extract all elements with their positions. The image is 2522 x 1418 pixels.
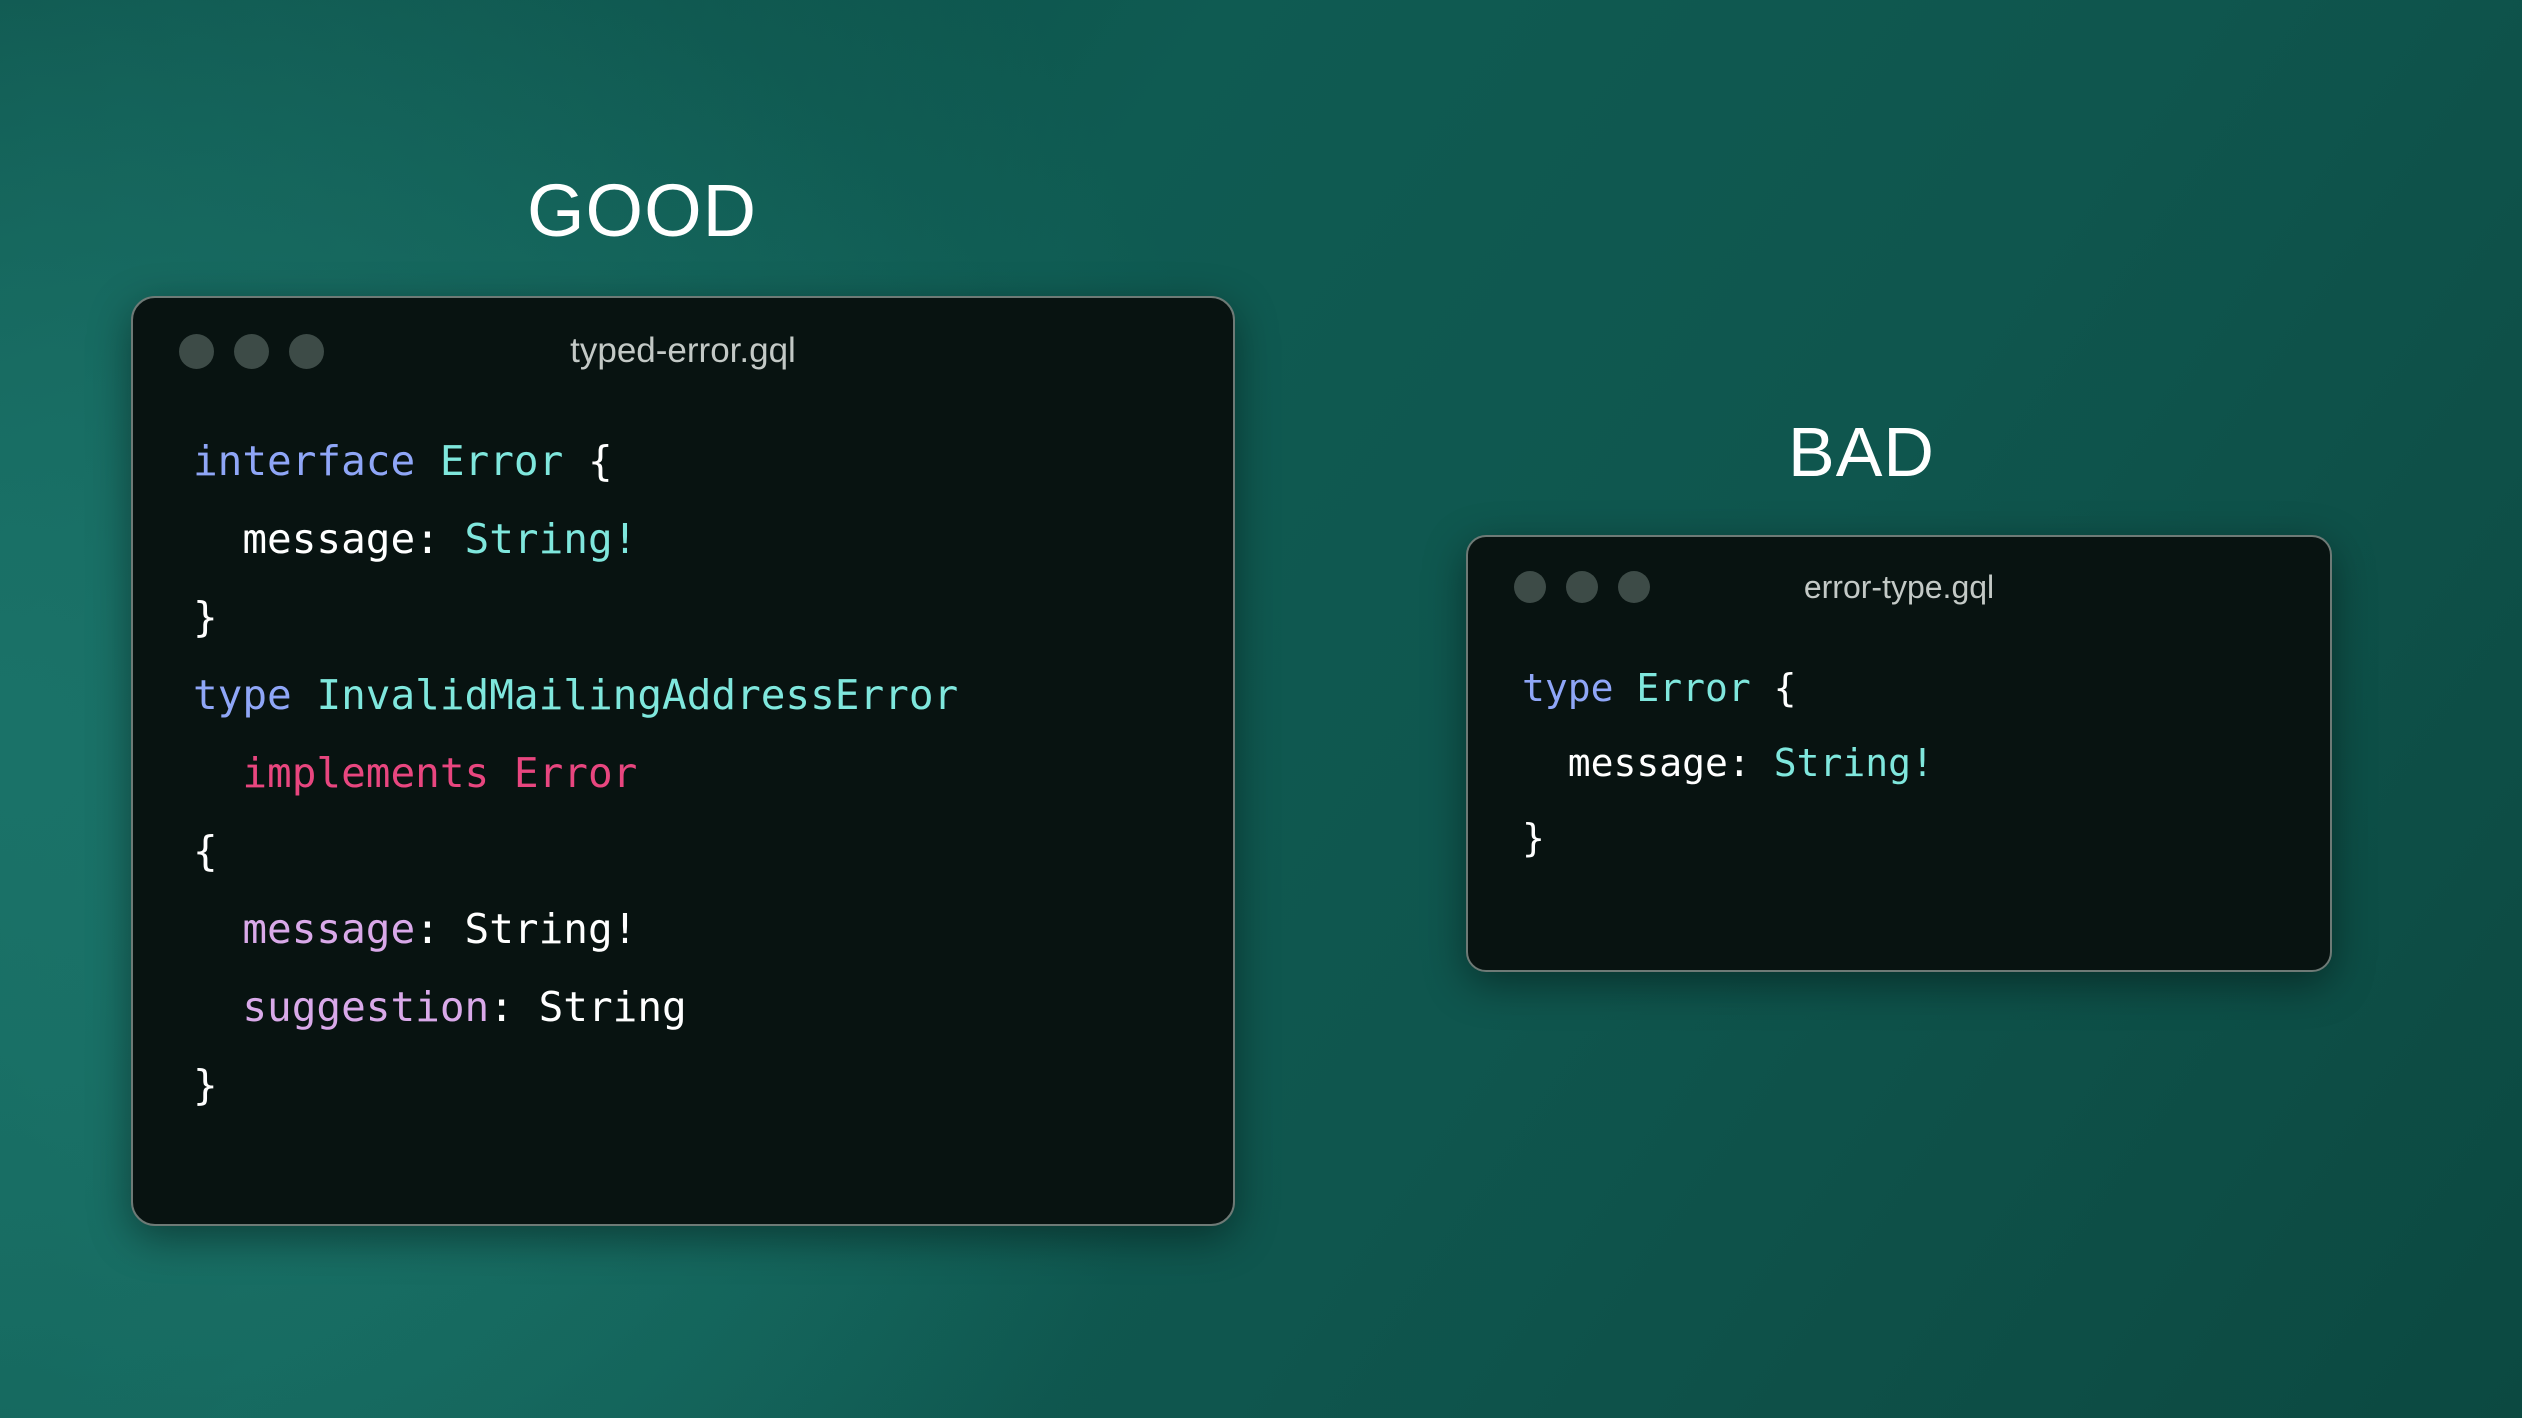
- code-token-type: Error: [1636, 666, 1750, 710]
- code-card-bad: error-type.gql type Error { message: Str…: [1466, 535, 2332, 972]
- code-card-good: typed-error.gql interface Error { messag…: [131, 296, 1235, 1226]
- dot-maximize-icon[interactable]: [289, 334, 324, 369]
- code-token-plain: }: [193, 593, 218, 641]
- code-line: {: [193, 812, 1233, 890]
- code-line: }: [193, 1046, 1233, 1124]
- code-line: interface Error {: [193, 422, 1233, 500]
- dot-close-icon[interactable]: [179, 334, 214, 369]
- code-token-plain: {: [193, 827, 218, 875]
- code-token-plain: }: [1522, 816, 1545, 860]
- dot-minimize-icon[interactable]: [234, 334, 269, 369]
- code-block-bad: type Error { message: String!}: [1468, 637, 2330, 876]
- code-token-plain: {: [1751, 666, 1797, 710]
- card-titlebar-bad: error-type.gql: [1468, 537, 2330, 637]
- code-line: type InvalidMailingAddressError: [193, 656, 1233, 734]
- code-token-plain: :: [1728, 741, 1774, 785]
- code-token-type: Error: [440, 437, 563, 485]
- code-token-type: InvalidMailingAddressError: [316, 671, 958, 719]
- code-token-plain: [193, 515, 242, 563]
- code-token-plain: [193, 749, 242, 797]
- code-block-good: interface Error { message: String!}type …: [133, 404, 1233, 1124]
- code-token-plain: [1614, 666, 1637, 710]
- code-line: type Error {: [1522, 651, 2330, 726]
- code-line: message: String!: [1522, 726, 2330, 801]
- code-line: implements Error: [193, 734, 1233, 812]
- code-line: message: String!: [193, 500, 1233, 578]
- code-token-plain: [292, 671, 317, 719]
- code-token-plain: {: [563, 437, 612, 485]
- code-line: }: [1522, 801, 2330, 876]
- code-token-field: message: [242, 905, 415, 953]
- traffic-lights-good: [179, 334, 324, 369]
- dot-minimize-icon[interactable]: [1566, 571, 1598, 603]
- code-line: }: [193, 578, 1233, 656]
- code-token-kw: type: [193, 671, 292, 719]
- code-token-plain: [415, 437, 440, 485]
- code-token-plain: message: [242, 515, 415, 563]
- section-label-good: GOOD: [527, 168, 757, 253]
- code-token-plain: [193, 905, 242, 953]
- code-token-field: suggestion: [242, 983, 489, 1031]
- code-token-impl: implements Error: [242, 749, 637, 797]
- code-token-plain: : String: [489, 983, 686, 1031]
- card-titlebar-good: typed-error.gql: [133, 298, 1233, 404]
- code-token-kw: type: [1522, 666, 1614, 710]
- section-label-bad: BAD: [1788, 412, 1935, 492]
- code-token-plain: [1522, 741, 1568, 785]
- traffic-lights-bad: [1514, 571, 1650, 603]
- code-token-plain: message: [1568, 741, 1728, 785]
- code-line: suggestion: String: [193, 968, 1233, 1046]
- code-token-plain: :: [415, 515, 464, 563]
- code-token-plain: [193, 983, 242, 1031]
- code-token-plain: }: [193, 1061, 218, 1109]
- code-token-type: String!: [465, 515, 638, 563]
- code-token-kw: interface: [193, 437, 415, 485]
- code-token-type: String!: [1774, 741, 1934, 785]
- code-line: message: String!: [193, 890, 1233, 968]
- dot-maximize-icon[interactable]: [1618, 571, 1650, 603]
- code-token-plain: : String!: [415, 905, 637, 953]
- dot-close-icon[interactable]: [1514, 571, 1546, 603]
